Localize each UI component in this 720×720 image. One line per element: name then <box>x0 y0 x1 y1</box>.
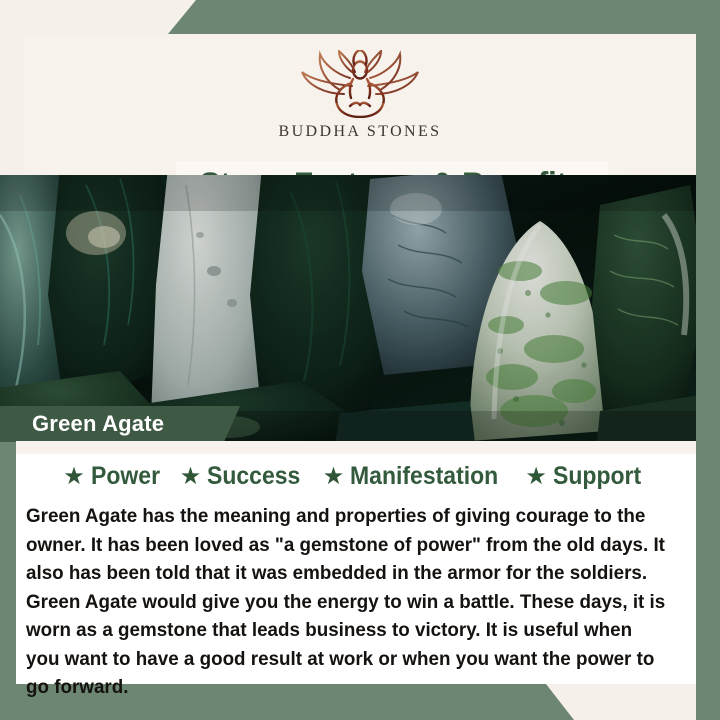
content-top-strip <box>16 441 696 454</box>
card-header: BUDDHA STONES Stone Features & Benefits <box>24 34 696 175</box>
feature-item-manifestation: ★ Manifestation <box>323 462 512 491</box>
feature-item-power: ★ Power <box>63 462 166 491</box>
frame-left-band <box>0 404 16 720</box>
star-icon: ★ <box>525 465 547 489</box>
star-icon: ★ <box>63 465 85 489</box>
lotus-meditation-icon <box>292 50 428 118</box>
frame-right-band <box>696 0 720 720</box>
brand-name: BUDDHA STONES <box>279 123 442 141</box>
green-agate-photo <box>0 175 696 441</box>
feature-list: ★ Power ★ Success ★ Manifestation ★ Supp… <box>16 454 696 491</box>
brand-logo: BUDDHA STONES <box>24 50 696 141</box>
content-panel: ★ Power ★ Success ★ Manifestation ★ Supp… <box>16 454 696 684</box>
feature-item-support: ★ Support <box>525 462 648 491</box>
stone-name-label: Green Agate <box>32 411 164 437</box>
feature-label: Manifestation <box>350 462 498 491</box>
stone-info-card: BUDDHA STONES Stone Features & Benefits <box>0 0 720 720</box>
frame-top-band <box>0 0 720 34</box>
feature-label: Success <box>207 462 300 491</box>
star-icon: ★ <box>323 465 345 489</box>
feature-label: Support <box>553 462 641 491</box>
feature-label: Power <box>91 462 160 491</box>
feature-item-success: ★ Success <box>180 462 309 491</box>
star-icon: ★ <box>180 465 202 489</box>
stone-description: Green Agate has the meaning and properti… <box>26 502 667 702</box>
stone-name-badge: Green Agate <box>0 406 240 442</box>
